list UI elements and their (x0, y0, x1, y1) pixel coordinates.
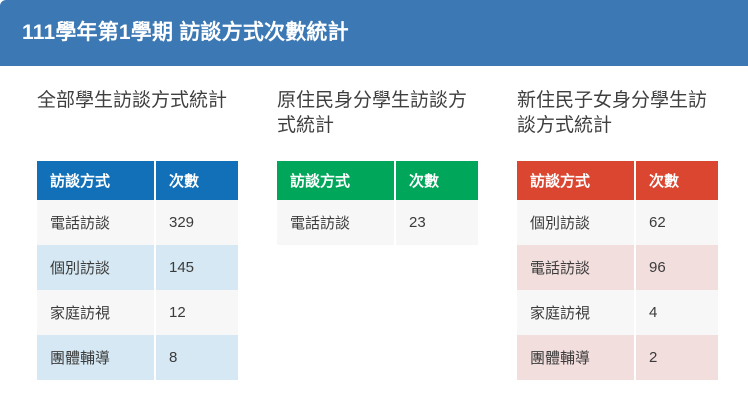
table-row: 團體輔導 2 (517, 335, 718, 380)
table-header-new-immigrant-students: 訪談方式 次數 (517, 161, 718, 200)
panel-title-new-immigrant-students: 新住民子女身分學生訪談方式統計 (517, 66, 717, 139)
table-header-indigenous-students: 訪談方式 次數 (277, 161, 478, 200)
table-body-indigenous-students: 電話訪談 23 (277, 200, 478, 245)
table-row: 家庭訪視 4 (517, 290, 718, 335)
cell-method: 個別訪談 (37, 245, 155, 290)
cell-method: 家庭訪視 (37, 290, 155, 335)
cell-count: 4 (635, 290, 718, 335)
table-header-row: 訪談方式 次數 (277, 161, 478, 200)
table-header-row: 訪談方式 次數 (517, 161, 718, 200)
cell-method: 電話訪談 (277, 200, 395, 245)
table-header-all-students: 訪談方式 次數 (37, 161, 238, 200)
cell-count: 2 (635, 335, 718, 380)
column-header-count: 次數 (395, 161, 478, 200)
table-new-immigrant-students: 訪談方式 次數 個別訪談 62 電話訪談 96 家庭訪視 4 團體輔 (517, 161, 718, 380)
table-row: 個別訪談 145 (37, 245, 238, 290)
panel-new-immigrant-students: 新住民子女身分學生訪談方式統計 訪談方式 次數 個別訪談 62 電話訪談 96 (480, 66, 748, 411)
table-row: 團體輔導 8 (37, 335, 238, 380)
table-body-all-students: 電話訪談 329 個別訪談 145 家庭訪視 12 團體輔導 8 (37, 200, 238, 380)
table-row: 電話訪談 23 (277, 200, 478, 245)
table-indigenous-students: 訪談方式 次數 電話訪談 23 (277, 161, 478, 245)
cell-method: 電話訪談 (517, 245, 635, 290)
table-all-students: 訪談方式 次數 電話訪談 329 個別訪談 145 家庭訪視 12 (37, 161, 238, 380)
cell-method: 家庭訪視 (517, 290, 635, 335)
panel-title-all-students: 全部學生訪談方式統計 (37, 66, 237, 113)
cell-method: 團體輔導 (517, 335, 635, 380)
cell-count: 96 (635, 245, 718, 290)
cell-count: 145 (155, 245, 238, 290)
table-row: 個別訪談 62 (517, 200, 718, 245)
table-row: 電話訪談 96 (517, 245, 718, 290)
table-header-row: 訪談方式 次數 (37, 161, 238, 200)
panel-title-indigenous-students: 原住民身分學生訪談方式統計 (277, 66, 477, 139)
cell-method: 電話訪談 (37, 200, 155, 245)
cell-count: 62 (635, 200, 718, 245)
column-header-count: 次數 (635, 161, 718, 200)
panel-indigenous-students: 原住民身分學生訪談方式統計 訪談方式 次數 電話訪談 23 (240, 66, 480, 411)
table-row: 電話訪談 329 (37, 200, 238, 245)
page-header-bar: 111學年第1學期 訪談方式次數統計 (0, 0, 748, 66)
column-header-method: 訪談方式 (37, 161, 155, 200)
table-row: 家庭訪視 12 (37, 290, 238, 335)
cell-count: 12 (155, 290, 238, 335)
table-body-new-immigrant-students: 個別訪談 62 電話訪談 96 家庭訪視 4 團體輔導 2 (517, 200, 718, 380)
cell-method: 個別訪談 (517, 200, 635, 245)
page-title: 111學年第1學期 訪談方式次數統計 (22, 16, 349, 46)
cell-count: 8 (155, 335, 238, 380)
cell-count: 23 (395, 200, 478, 245)
panel-all-students: 全部學生訪談方式統計 訪談方式 次數 電話訪談 329 個別訪談 145 (0, 66, 240, 411)
column-header-method: 訪談方式 (277, 161, 395, 200)
cell-method: 團體輔導 (37, 335, 155, 380)
column-header-count: 次數 (155, 161, 238, 200)
column-header-method: 訪談方式 (517, 161, 635, 200)
stats-panels-container: 全部學生訪談方式統計 訪談方式 次數 電話訪談 329 個別訪談 145 (0, 66, 748, 411)
cell-count: 329 (155, 200, 238, 245)
